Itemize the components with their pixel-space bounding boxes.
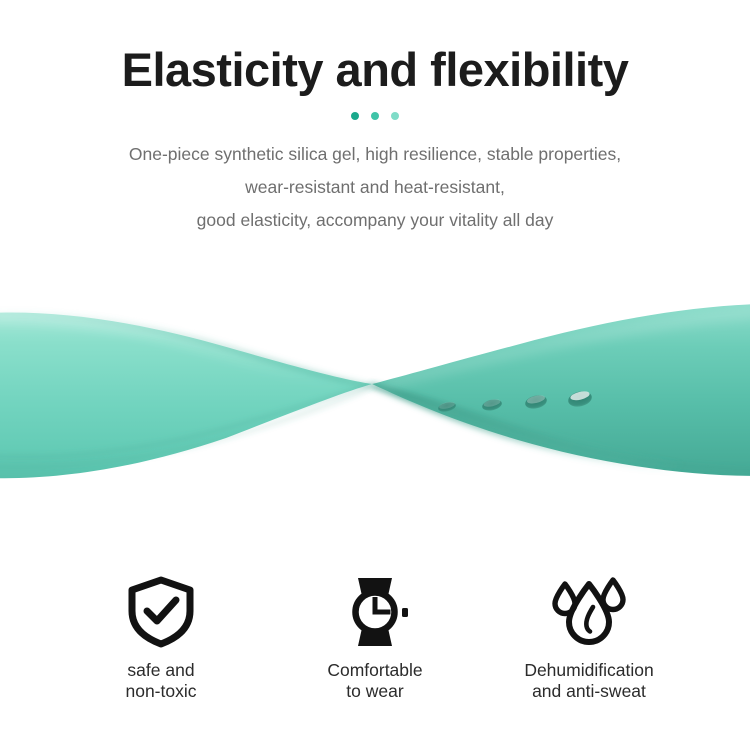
separator-dot-2 (371, 112, 379, 120)
feature-item-comfortable: Comfortable to wear (268, 572, 482, 702)
subtitle-line-1: One-piece synthetic silica gel, high res… (0, 138, 750, 171)
subtitle-line-3: good elasticity, accompany your vitality… (0, 204, 750, 237)
twisted-band-illustration (0, 270, 750, 520)
shield-check-icon (54, 572, 268, 652)
watch-crown (402, 608, 408, 617)
product-hero-image (0, 270, 750, 520)
page-title: Elasticity and flexibility (0, 0, 750, 97)
feature-item-safe: safe and non-toxic (54, 572, 268, 702)
feature-list: safe and non-toxic Comfortable to wear (0, 572, 750, 702)
product-feature-page: Elasticity and flexibility One-piece syn… (0, 0, 750, 750)
feature-label-dehumidification: Dehumidification and anti-sweat (482, 660, 696, 702)
feature-label-comfortable: Comfortable to wear (268, 660, 482, 702)
water-drop-inner-highlight (586, 607, 593, 632)
header-section: Elasticity and flexibility One-piece syn… (0, 0, 750, 237)
feature-label-safe: safe and non-toxic (54, 660, 268, 702)
subtitle-block: One-piece synthetic silica gel, high res… (0, 121, 750, 237)
feature-item-dehumidification: Dehumidification and anti-sweat (482, 572, 696, 702)
water-drops-icon (482, 572, 696, 652)
wristwatch-icon (268, 572, 482, 652)
separator-dot-1 (351, 112, 359, 120)
dot-separator (0, 111, 750, 121)
separator-dot-3 (391, 112, 399, 120)
check-mark-path (147, 600, 176, 621)
subtitle-line-2: wear-resistant and heat-resistant, (0, 171, 750, 204)
